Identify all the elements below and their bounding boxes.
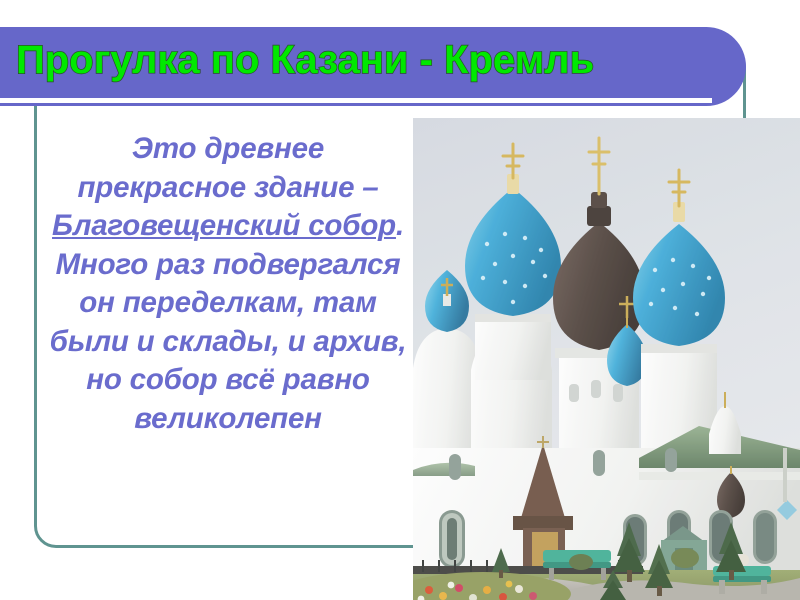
slide-title: Прогулка по Казани - Кремль [16,29,716,91]
slide-canvas: Прогулка по Казани - Кремль Это древнее … [0,0,800,600]
slide-body-text: Это древнее прекрасное здание – Благовещ… [44,130,412,438]
body-segment-3: . Много раз подвергался он переделкам, т… [50,209,407,435]
cathedral-photo [413,118,800,600]
cathedral-photo-graphic [413,118,800,600]
title-underline-rule [0,98,712,103]
body-segment-2-underlined: Благовещенский собор [52,209,396,242]
body-segment-1: Это древнее прекрасное здание – [77,132,378,204]
